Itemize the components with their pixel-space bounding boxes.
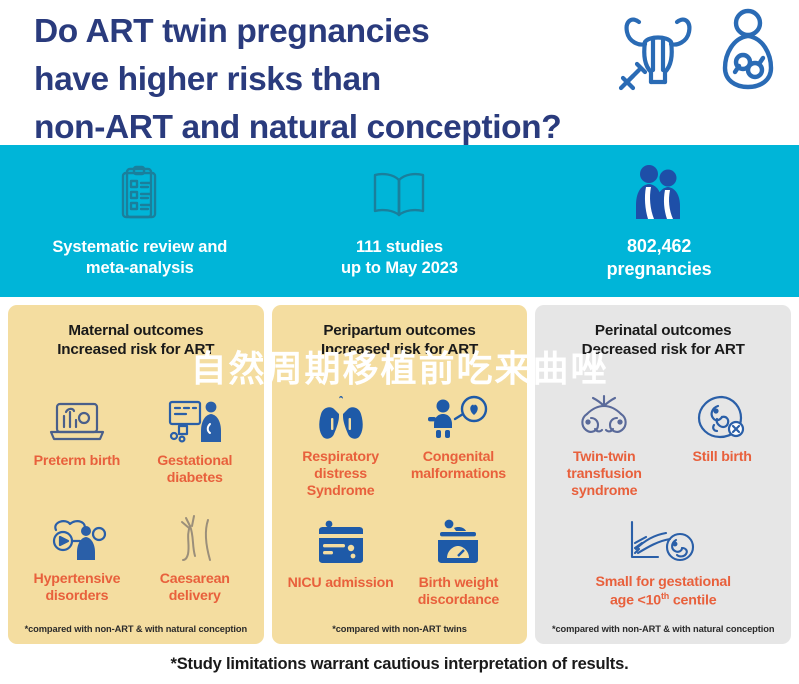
- outcome-label: Respiratory distress Syndrome: [284, 449, 398, 500]
- card-title: Perinatal outcomes Decreased risk for AR…: [545, 321, 781, 359]
- open-book-icon: [370, 163, 428, 225]
- outcome-label: Twin-twin transfusion syndrome: [567, 449, 642, 500]
- outcome-twin-twin-transfusion-syndrome: Twin-twin transfusion syndrome: [545, 392, 663, 500]
- outcome-label: Preterm birth: [34, 453, 121, 470]
- card-footnote: *compared with non-ART & with natural co…: [18, 618, 254, 638]
- card-outcome-grid: Respiratory distress Syndrome: [282, 365, 518, 618]
- pregnant-women-pair-icon: [633, 161, 685, 223]
- page-title: Do ART twin pregnancies have higher risk…: [34, 8, 561, 153]
- outcome-respiratory-distress-syndrome: Respiratory distress Syndrome: [282, 392, 400, 500]
- infographic-root: Do ART twin pregnancies have higher risk…: [0, 0, 799, 684]
- card-footnote: *compared with non-ART twins: [282, 618, 518, 638]
- card-maternal-outcomes: Maternal outcomes Increased risk for ART…: [8, 305, 264, 644]
- glucose-monitor-pregnant-icon: [166, 396, 224, 444]
- outcome-label: Congenital malformations: [411, 449, 506, 483]
- stillbirth-fetus-x-icon: [696, 392, 748, 440]
- card-title: Maternal outcomes Increased risk for ART: [18, 321, 254, 359]
- outcome-label: Hypertensive disorders: [34, 571, 121, 605]
- outcome-nicu-admission: NICU admission: [282, 518, 400, 609]
- outcome-label: Caesarean delivery: [160, 571, 230, 605]
- stats-band: Systematic review and meta-analysis 111 …: [0, 145, 799, 297]
- clipboard-checklist-icon: [116, 163, 164, 225]
- uterus-syringe-icon: [609, 6, 707, 97]
- twin-fetuses-placenta-icon: [573, 392, 635, 440]
- outcome-label: NICU admission: [288, 575, 394, 592]
- blood-pressure-pregnant-icon: [46, 514, 108, 562]
- card-outcome-grid: Preterm birth: [18, 365, 254, 618]
- outcome-label: Still birth: [692, 449, 751, 466]
- outcome-label-sga: Small for gestational age <10th centile: [596, 574, 731, 610]
- lungs-icon: [315, 392, 367, 440]
- stat-label: 802,462 pregnancies: [607, 235, 712, 280]
- outcome-hypertensive-disorders: Hypertensive disorders: [18, 514, 136, 605]
- card-title: Peripartum outcomes Increased risk for A…: [282, 321, 518, 359]
- baby-heart-icon: [427, 392, 489, 440]
- card-peripartum-outcomes: Peripartum outcomes Increased risk for A…: [272, 305, 528, 644]
- outcome-label: Birth weight discordance: [418, 575, 499, 609]
- sga-label-post: centile: [669, 592, 716, 608]
- stat-pregnancies: 802,462 pregnancies: [531, 161, 788, 280]
- growth-chart-fetus-icon: [624, 517, 702, 565]
- card-perinatal-outcomes: Perinatal outcomes Decreased risk for AR…: [535, 305, 791, 644]
- baby-scale-icon: [432, 518, 484, 566]
- incubator-icon: [313, 518, 369, 566]
- card-footnote: *compared with non-ART & with natural co…: [545, 618, 781, 638]
- outcome-birth-weight-discordance: Birth weight discordance: [400, 518, 518, 609]
- stat-studies: 111 studies up to May 2023: [271, 163, 528, 279]
- outcome-preterm-birth: Preterm birth: [18, 396, 136, 487]
- pregnant-woman-twins-icon: [719, 6, 777, 97]
- outcome-still-birth: Still birth: [663, 392, 781, 500]
- outcome-small-for-gestational-age: Small for gestational age <10th centile: [545, 517, 781, 610]
- header-icon-group: [609, 6, 777, 97]
- header: Do ART twin pregnancies have higher risk…: [0, 0, 799, 145]
- caesarean-scar-icon: [168, 514, 222, 562]
- stat-label: Systematic review and meta-analysis: [52, 237, 227, 279]
- outcome-caesarean-delivery: Caesarean delivery: [136, 514, 254, 605]
- stat-label: 111 studies up to May 2023: [341, 237, 458, 279]
- stat-systematic-review: Systematic review and meta-analysis: [11, 163, 268, 279]
- laptop-chart-icon: [48, 396, 106, 444]
- outcome-label: Gestational diabetes: [157, 453, 232, 487]
- footer-disclaimer: *Study limitations warrant cautious inte…: [171, 655, 629, 674]
- sga-label-sup: th: [661, 591, 669, 601]
- outcome-congenital-malformations: Congenital malformations: [400, 392, 518, 500]
- card-outcome-grid: Twin-twin transfusion syndrome: [545, 365, 781, 618]
- outcome-cards: Maternal outcomes Increased risk for ART…: [0, 297, 799, 644]
- footer: *Study limitations warrant cautious inte…: [0, 644, 799, 684]
- outcome-gestational-diabetes: Gestational diabetes: [136, 396, 254, 487]
